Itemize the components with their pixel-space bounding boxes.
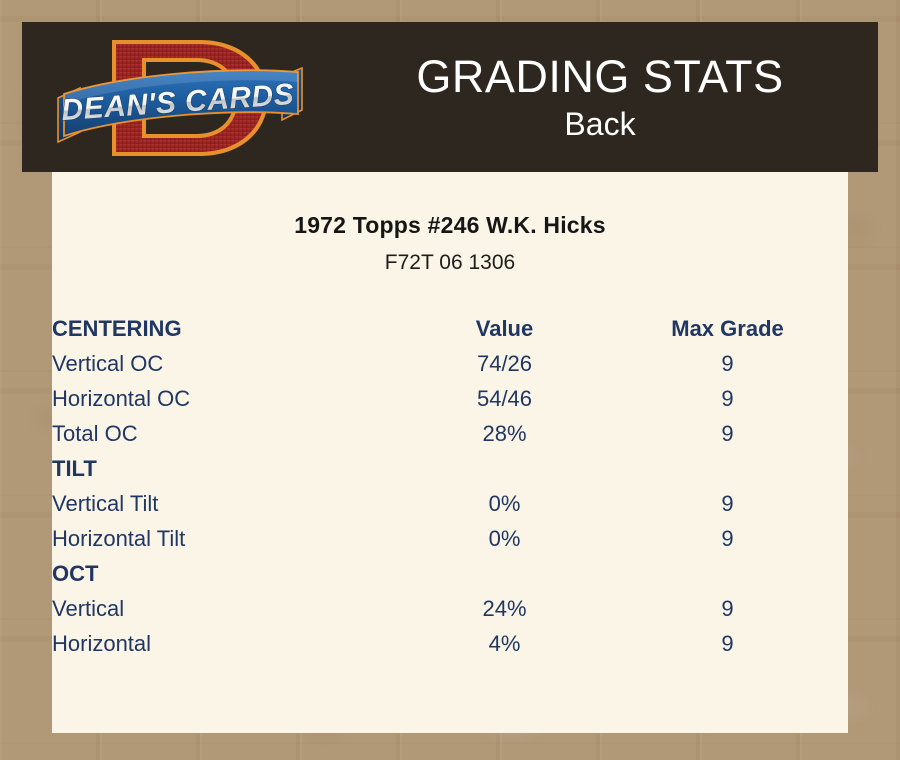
- stat-value: 54/46: [402, 381, 607, 416]
- section-grade-spacer: [607, 556, 848, 591]
- stat-max-grade: 9: [607, 626, 848, 661]
- table-row: Vertical OC74/269: [52, 346, 848, 381]
- page-subtitle: Back: [564, 105, 635, 143]
- table-body: Vertical OC74/269Horizontal OC54/469Tota…: [52, 346, 848, 661]
- table-row: Horizontal OC54/469: [52, 381, 848, 416]
- section-label: OCT: [52, 556, 402, 591]
- stat-label: Vertical: [52, 591, 402, 626]
- stat-label: Vertical OC: [52, 346, 402, 381]
- stat-max-grade: 9: [607, 486, 848, 521]
- stat-max-grade: 9: [607, 381, 848, 416]
- stat-label: Vertical Tilt: [52, 486, 402, 521]
- table-section-row: OCT: [52, 556, 848, 591]
- table-section-row: TILT: [52, 451, 848, 486]
- deans-cards-logo: DEAN'S CARDS: [50, 28, 310, 168]
- header-title-group: GRADING STATS Back: [322, 22, 878, 172]
- section-value-spacer: [402, 556, 607, 591]
- column-header-centering: CENTERING: [52, 311, 402, 346]
- table-row: Horizontal Tilt0%9: [52, 521, 848, 556]
- card-title: 1972 Topps #246 W.K. Hicks: [52, 212, 848, 239]
- table-row: Vertical24%9: [52, 591, 848, 626]
- table-row: Horizontal4%9: [52, 626, 848, 661]
- stat-label: Horizontal OC: [52, 381, 402, 416]
- table-header: CENTERING Value Max Grade: [52, 311, 848, 346]
- stat-max-grade: 9: [607, 416, 848, 451]
- stat-max-grade: 9: [607, 521, 848, 556]
- stat-value: 0%: [402, 521, 607, 556]
- stat-label: Total OC: [52, 416, 402, 451]
- stat-value: 0%: [402, 486, 607, 521]
- card-serial-number: F72T 06 1306: [52, 251, 848, 275]
- section-grade-spacer: [607, 451, 848, 486]
- stat-label: Horizontal: [52, 626, 402, 661]
- stat-value: 24%: [402, 591, 607, 626]
- content-panel: 1972 Topps #246 W.K. Hicks F72T 06 1306 …: [52, 172, 848, 733]
- stat-value: 28%: [402, 416, 607, 451]
- table-row: Total OC28%9: [52, 416, 848, 451]
- table-header-row: CENTERING Value Max Grade: [52, 311, 848, 346]
- grading-stats-table: CENTERING Value Max Grade Vertical OC74/…: [52, 311, 848, 661]
- stat-value: 4%: [402, 626, 607, 661]
- section-label: TILT: [52, 451, 402, 486]
- stat-value: 74/26: [402, 346, 607, 381]
- stat-label: Horizontal Tilt: [52, 521, 402, 556]
- header-bar: DEAN'S CARDS GRADING STATS Back: [22, 22, 878, 172]
- table-row: Vertical Tilt0%9: [52, 486, 848, 521]
- section-value-spacer: [402, 451, 607, 486]
- column-header-value: Value: [402, 311, 607, 346]
- logo-graphic: DEAN'S CARDS: [50, 28, 310, 168]
- column-header-max-grade: Max Grade: [607, 311, 848, 346]
- stat-max-grade: 9: [607, 346, 848, 381]
- page-title: GRADING STATS: [416, 51, 783, 103]
- stat-max-grade: 9: [607, 591, 848, 626]
